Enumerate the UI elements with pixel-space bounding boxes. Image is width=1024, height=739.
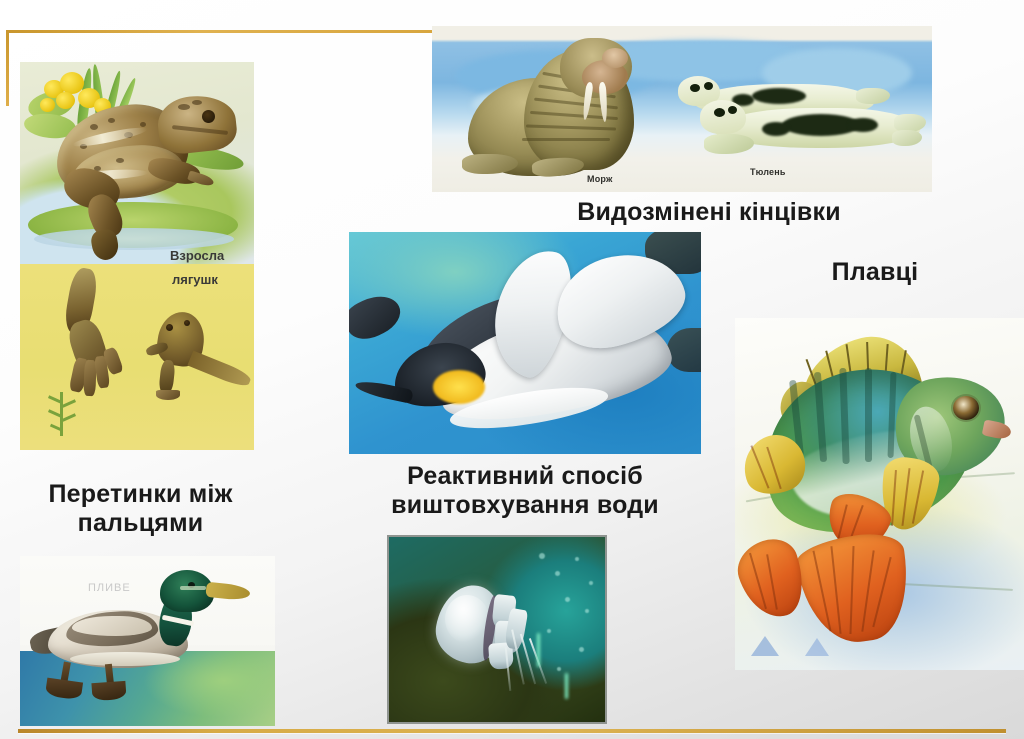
- caption-fins: Плавці: [760, 258, 990, 287]
- frog-label-line2: лягушк: [172, 272, 218, 287]
- jellyfish-underwater-photo: [389, 537, 605, 722]
- walrus-and-seal-illustration: Морж Тюлень: [432, 26, 932, 192]
- gold-rule-left: [6, 30, 9, 106]
- frog-lifecycle-illustration: Взросла лягушк: [20, 62, 254, 450]
- frog-label-line1: Взросла: [170, 248, 224, 263]
- caption-jet-propulsion: Реактивний спосіб виштовхування води: [345, 462, 705, 520]
- perch-fish-illustration: [735, 318, 1024, 670]
- slide-canvas: Взросла лягушк: [0, 0, 1024, 739]
- caption-webbed-toes: Перетинки між пальцями: [8, 480, 273, 538]
- swimming-mallard-duck-illustration: ПЛИВЕ: [20, 556, 275, 726]
- gold-rule-bottom: [18, 729, 1006, 733]
- gold-rule-top: [6, 30, 434, 33]
- seal-label: Тюлень: [750, 167, 786, 177]
- diving-penguin-illustration: [349, 232, 701, 454]
- walrus-label: Морж: [587, 174, 613, 184]
- caption-modified-limbs: Видозмінені кінцівки: [474, 198, 944, 227]
